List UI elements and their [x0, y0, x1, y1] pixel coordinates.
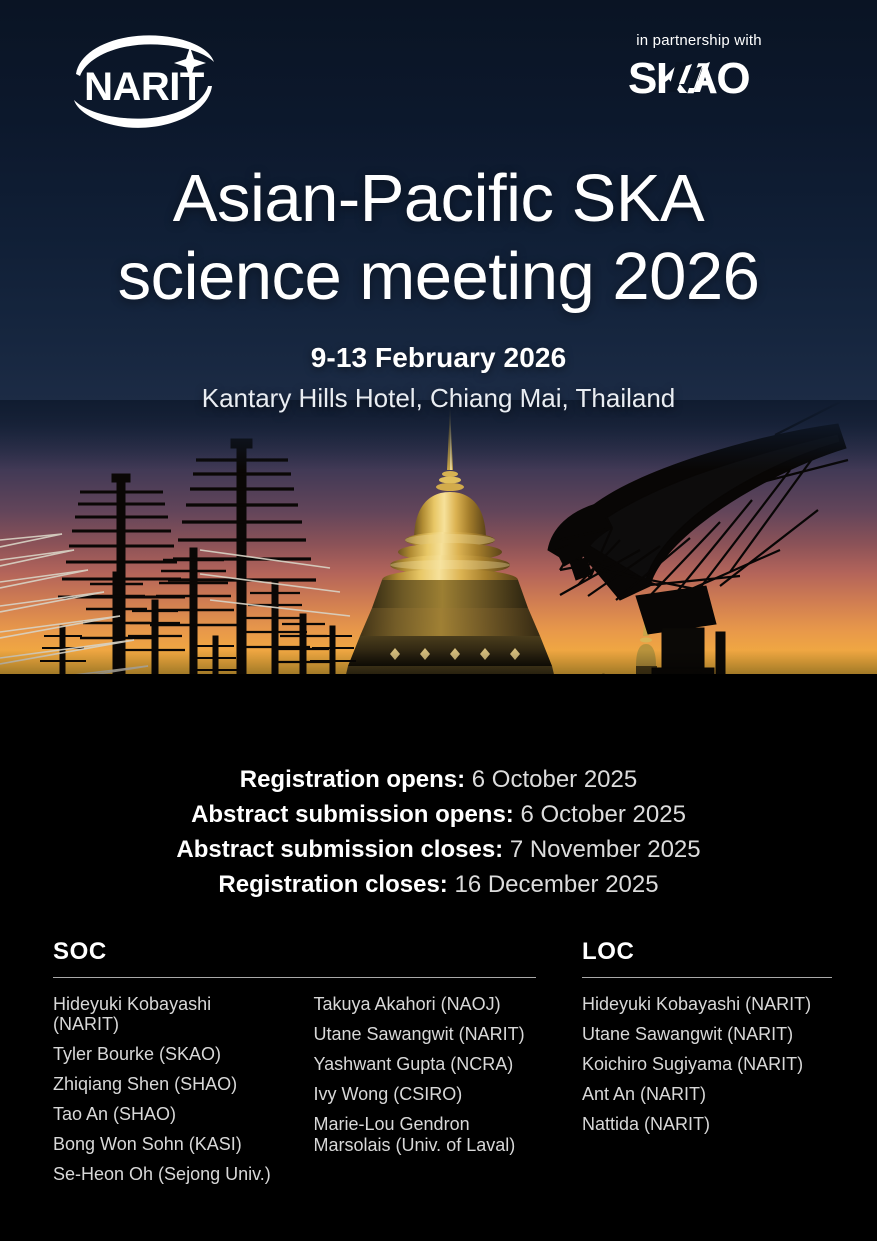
list-item: Utane Sawangwit (NARIT): [314, 1024, 537, 1054]
deadline-label: Registration closes:: [218, 871, 447, 898]
deadline-value: 6 October 2025: [472, 766, 637, 793]
deadline-label: Abstract submission opens:: [191, 801, 514, 828]
poster-root: NARIT in partnership with SKAO Asian-Pac…: [0, 0, 877, 1241]
list-item: Yashwant Gupta (NCRA): [314, 1054, 537, 1084]
event-dates: 9-13 February 2026: [0, 342, 877, 374]
deadline-value: 6 October 2025: [520, 801, 685, 828]
list-item: Tyler Bourke (SKAO): [53, 1044, 276, 1074]
deadline-value: 16 December 2025: [454, 871, 658, 898]
deadlines-list: Registration opens: 6 October 2025 Abstr…: [0, 762, 877, 902]
list-item: Hideyuki Kobayashi (NARIT): [53, 994, 276, 1044]
committees-section: SOC Hideyuki Kobayashi (NARIT) Tyler Bou…: [53, 938, 832, 1194]
partnership-label: in partnership with: [579, 32, 819, 50]
deadline-row: Registration opens: 6 October 2025: [0, 762, 877, 797]
soc-column-2: Takuya Akahori (NAOJ) Utane Sawangwit (N…: [314, 994, 537, 1194]
deadline-row: Registration closes: 16 December 2025: [0, 867, 877, 902]
list-item: Utane Sawangwit (NARIT): [582, 1024, 832, 1054]
list-item: Koichiro Sugiyama (NARIT): [582, 1054, 832, 1084]
narit-wordmark: NARIT: [84, 65, 204, 109]
list-item: Tao An (SHAO): [53, 1104, 276, 1134]
loc-column: Hideyuki Kobayashi (NARIT) Utane Sawangw…: [582, 994, 832, 1144]
deadline-label: Abstract submission closes:: [176, 836, 503, 863]
list-item: Marie-Lou Gendron Marsolais (Univ. of La…: [314, 1114, 537, 1166]
skao-wordmark: SKAO: [628, 54, 749, 100]
skao-logo[interactable]: SKAO: [628, 54, 770, 100]
list-item: Hideyuki Kobayashi (NARIT): [582, 994, 832, 1024]
event-venue: Kantary Hills Hotel, Chiang Mai, Thailan…: [0, 383, 877, 414]
hero-image: [0, 400, 877, 760]
partnership-block: in partnership with SKAO: [579, 32, 819, 100]
loc-heading: LOC: [582, 938, 832, 966]
list-item: Ivy Wong (CSIRO): [314, 1084, 537, 1114]
deadline-label: Registration opens:: [240, 766, 465, 793]
list-item: Bong Won Sohn (KASI): [53, 1134, 276, 1164]
list-item: Ant An (NARIT): [582, 1084, 832, 1114]
page-title-line1: Asian-Pacific SKA: [0, 160, 877, 238]
ground-silhouette: [0, 674, 877, 760]
soc-column-1: Hideyuki Kobayashi (NARIT) Tyler Bourke …: [53, 994, 276, 1194]
soc-panel: SOC Hideyuki Kobayashi (NARIT) Tyler Bou…: [53, 938, 536, 1194]
soc-heading: SOC: [53, 938, 536, 966]
loc-divider: [582, 977, 832, 978]
list-item: Zhiqiang Shen (SHAO): [53, 1074, 276, 1104]
soc-divider: [53, 977, 536, 978]
deadline-row: Abstract submission closes: 7 November 2…: [0, 832, 877, 867]
list-item: Takuya Akahori (NAOJ): [314, 994, 537, 1024]
narit-logo[interactable]: NARIT: [58, 28, 230, 140]
loc-panel: LOC Hideyuki Kobayashi (NARIT) Utane Saw…: [582, 938, 832, 1194]
title-block: Asian-Pacific SKA science meeting 2026 9…: [0, 160, 877, 414]
page-title-line2: science meeting 2026: [0, 238, 877, 316]
list-item: Nattida (NARIT): [582, 1114, 832, 1144]
deadline-value: 7 November 2025: [510, 836, 701, 863]
deadline-row: Abstract submission opens: 6 October 202…: [0, 797, 877, 832]
list-item: Se-Heon Oh (Sejong Univ.): [53, 1164, 276, 1194]
